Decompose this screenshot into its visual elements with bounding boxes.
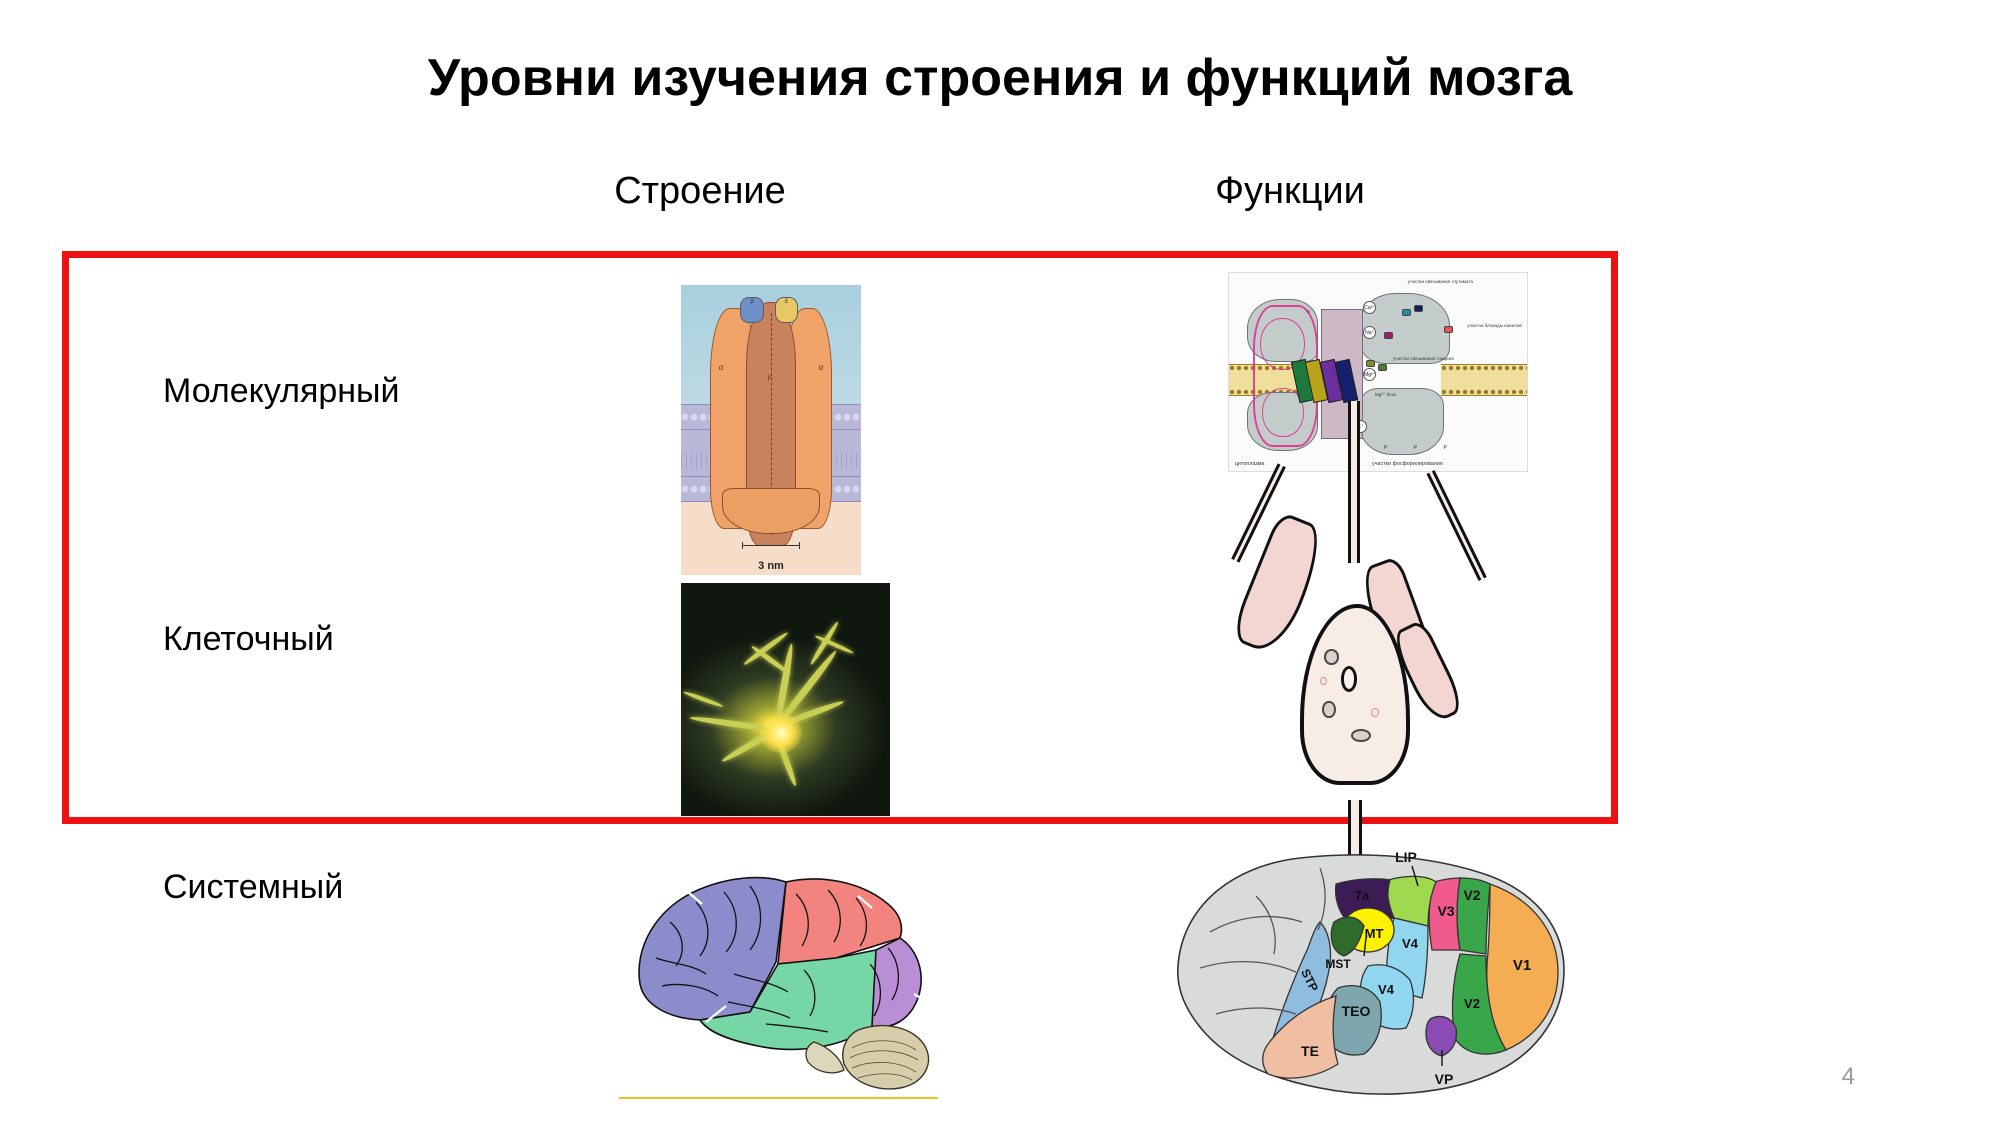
column-header-functions: Функции xyxy=(1130,170,1450,213)
binding-site-f xyxy=(1378,364,1387,371)
organelle xyxy=(1322,701,1335,718)
vesicle xyxy=(1320,677,1327,686)
figure-ion-channel-receptor: β δ α α γ 3 nm xyxy=(681,285,861,575)
caption-phosphorylation: участки фосфорилирования xyxy=(1372,461,1443,468)
row-label-molecular: Молекулярный xyxy=(163,372,400,411)
phosphate-mark-3: P xyxy=(1444,445,1447,451)
label-7a: 7a xyxy=(1355,888,1370,903)
binding-site-d xyxy=(1444,326,1453,333)
binding-site-a xyxy=(1402,309,1411,316)
terminal-label-n: N xyxy=(1306,309,1309,315)
cerebellum xyxy=(843,1026,929,1089)
phosphate-mark-2: P xyxy=(1414,445,1417,451)
scale-bar xyxy=(742,542,800,549)
subunit-knob-delta: δ xyxy=(775,297,798,323)
annotation-magnesium-block: Mg²⁺ блок xyxy=(1375,392,1396,398)
label-MST: MST xyxy=(1325,957,1351,971)
row-label-systems: Системный xyxy=(163,868,343,907)
dendrite-branch xyxy=(751,644,791,675)
label-V2-upper: V2 xyxy=(1463,887,1480,903)
label-V1: V1 xyxy=(1513,957,1531,974)
scale-bar-label: 3 nm xyxy=(681,560,861,572)
brainstem xyxy=(806,1042,844,1073)
figure-visual-cortex-map: LIP 7a MT MST STP V1 V2 V2 V3 V4 V4 TEO … xyxy=(1160,838,1585,1118)
organelle xyxy=(1351,729,1371,743)
caption-cytoplasm: цитоплазма xyxy=(1235,461,1265,468)
figure-human-brain-lobes xyxy=(600,852,980,1107)
label-TEO: TEO xyxy=(1342,1003,1371,1019)
ion-calcium: Ca²⁺ xyxy=(1363,301,1376,314)
binding-site-b xyxy=(1414,305,1423,312)
subunit-label-gamma: γ xyxy=(767,372,771,381)
ion-magnesium: Mg²⁺ xyxy=(1363,368,1376,381)
label-V4-lower: V4 xyxy=(1378,982,1395,997)
figure-nmda-receptor: Ca²⁺ Na⁺ Mg²⁺ K⁺ участки связывания глут… xyxy=(1228,272,1528,472)
subunit-label-alpha-right: α xyxy=(819,363,824,372)
label-LIP: LIP xyxy=(1395,849,1417,865)
binding-site-e xyxy=(1366,360,1375,367)
label-TE: TE xyxy=(1301,1043,1319,1059)
figure-neuron-micrograph xyxy=(681,583,890,816)
membrane-bilayer-right xyxy=(1441,364,1527,396)
annotation-glycine-sites: участки связывания глицина xyxy=(1393,356,1454,362)
label-V3: V3 xyxy=(1437,903,1454,919)
row-label-cellular: Клеточный xyxy=(163,620,334,659)
dendritic-process-right xyxy=(1426,470,1486,581)
dendrite-branch xyxy=(742,631,789,667)
apical-dendrite xyxy=(1348,401,1360,563)
organelle xyxy=(1324,649,1338,665)
binding-site-c xyxy=(1384,332,1393,339)
figure-synapse-drawing xyxy=(1240,510,1470,822)
page-title: Уровни изучения строения и функций мозга xyxy=(0,48,2000,108)
dendrite-branch xyxy=(683,690,724,708)
subunit-knob-beta: β xyxy=(740,297,763,323)
page-number: 4 xyxy=(1842,1063,1855,1091)
label-MT: MT xyxy=(1365,926,1384,941)
slide-canvas: Уровни изучения строения и функций мозга… xyxy=(0,0,2000,1125)
annotation-glutamate-sites: участки связывания глутамата xyxy=(1408,279,1473,285)
annotation-channel-block: участок блокады каналов xyxy=(1467,323,1521,329)
yellow-underline xyxy=(619,1097,938,1099)
label-V2-lower: V2 xyxy=(1464,996,1480,1011)
phosphate-mark-1: P xyxy=(1384,445,1387,451)
nucleus xyxy=(1341,666,1357,692)
protein-lobe-bottom-right xyxy=(1360,388,1443,455)
neuron-soma xyxy=(760,713,802,753)
vesicle xyxy=(1371,708,1378,717)
label-VP: VP xyxy=(1435,1071,1454,1087)
subunit-label-alpha-left: α xyxy=(719,363,724,372)
label-V4-upper: V4 xyxy=(1402,936,1419,951)
column-header-structure: Строение xyxy=(540,170,860,213)
